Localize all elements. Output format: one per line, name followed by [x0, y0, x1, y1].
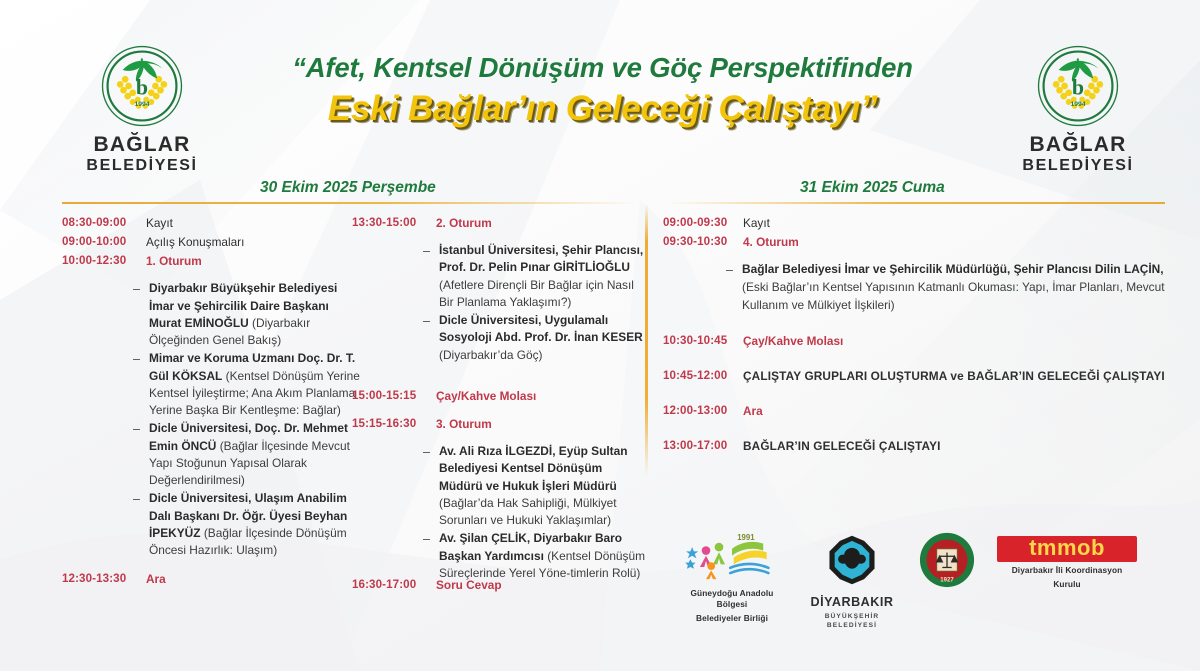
row-time: 08:30-09:00: [62, 214, 146, 233]
row-time: 16:30-17:00: [352, 576, 436, 595]
list-item: – Bağlar Belediyesi İmar ve Şehircilik M…: [726, 261, 1168, 315]
row-time: 15:15-16:30: [352, 415, 436, 434]
logo-baglar-belediyesi-right: b 1994 BAĞLAR BELEDİYESİ: [1002, 44, 1154, 175]
dash-icon: –: [423, 312, 439, 364]
tmmob-caption-line2: Kurulu: [992, 579, 1142, 590]
list-item: – Dicle Üniversitesi, Doç. Dr. Mehmet Em…: [133, 420, 362, 489]
row-time: 13:00-17:00: [663, 437, 743, 456]
dbb-caption-line2: BÜYÜKŞEHİR BELEDİYESİ: [802, 613, 902, 630]
logo-gabb: 1991 Güneydoğu Anadolu Bölgesi Belediyel…: [676, 528, 788, 623]
speaker-entry: Av. Ali Rıza İLGEZDİ, Eyüp Sultan Beledi…: [439, 443, 647, 529]
title-line-1: “Afet, Kentsel Dönüşüm ve Göç Perspektif…: [225, 52, 980, 84]
row-label: Ara: [743, 402, 763, 421]
speaker-entry: Diyarbakır Büyükşehir Belediyesi İmar ve…: [149, 280, 362, 349]
row-time: 10:45-12:00: [663, 367, 743, 386]
day-1-header: 30 Ekim 2025 Perşembe: [260, 179, 436, 197]
schedule-column-day1-morning: 08:30-09:00 Kayıt 09:00-10:00 Açılış Kon…: [62, 214, 362, 560]
schedule-row: 09:00-10:00 Açılış Konuşmaları: [62, 233, 362, 252]
list-item: – Av. Ali Rıza İLGEZDİ, Eyüp Sultan Bele…: [423, 443, 647, 529]
row-label: ÇALIŞTAY GRUPLARI OLUŞTURMA ve BAĞLAR’IN…: [743, 367, 1165, 386]
row-label: Açılış Konuşmaları: [146, 233, 244, 252]
divider-rule-day-2: [665, 202, 1165, 204]
title-line-2: Eski Bağlar’ın Geleceği Çalıştayı”: [225, 88, 980, 130]
row-label: 3. Oturum: [436, 415, 492, 434]
logo-diyarbakir-barosu: 1927: [916, 528, 978, 593]
speaker-entry: Av. Şilan ÇELİK, Diyarbakır Baro Başkan …: [439, 530, 647, 582]
row-time: 10:00-12:30: [62, 252, 146, 271]
row-time: 09:00-10:00: [62, 233, 146, 252]
schedule-row: 09:30-10:30 4. Oturum: [663, 233, 1168, 252]
list-item: – Dicle Üniversitesi, Ulaşım Anabilim Da…: [133, 490, 362, 559]
speaker-entry: Bağlar Belediyesi İmar ve Şehircilik Müd…: [742, 261, 1168, 315]
row-label: BAĞLAR’IN GELECEĞİ ÇALIŞTAYI: [743, 437, 941, 456]
row-label: 4. Oturum: [743, 233, 799, 252]
schedule-row: 13:30-15:00 2. Oturum: [352, 214, 647, 233]
schedule-row: 10:30-10:45 Çay/Kahve Molası: [663, 332, 1168, 351]
speaker-name: Av. Ali Rıza İLGEZDİ, Eyüp Sultan Beledi…: [439, 444, 628, 493]
gabb-emblem-icon: 1991: [680, 528, 784, 580]
logo-right-sub: BELEDİYESİ: [1002, 157, 1154, 175]
logo-diyarbakir-buyuksehir: DİYARBAKIR BÜYÜKŞEHİR BELEDİYESİ: [802, 528, 902, 630]
schedule-row: 09:00-09:30 Kayıt: [663, 214, 1168, 233]
baglar-emblem-icon: b 1994: [1036, 44, 1120, 128]
speaker-entry: Mimar ve Koruma Uzmanı Doç. Dr. T. Gül K…: [149, 350, 362, 419]
speaker-entry: Dicle Üniversitesi, Uygulamalı Sosyoloji…: [439, 312, 647, 364]
logo-left-name: BAĞLAR: [66, 134, 218, 156]
divider-rule-day-1: [62, 202, 640, 204]
schedule-row-break-day1: 12:30-13:30 Ara: [62, 570, 362, 589]
session-speaker-list: – Av. Ali Rıza İLGEZDİ, Eyüp Sultan Bele…: [352, 443, 647, 582]
dash-icon: –: [133, 490, 149, 559]
row-label: 2. Oturum: [436, 214, 492, 233]
tmmob-caption-line1: Diyarbakır İli Koordinasyon: [992, 565, 1142, 576]
gabb-caption-line2: Belediyeler Birliği: [676, 613, 788, 624]
row-label: 1. Oturum: [146, 252, 202, 271]
schedule-row: 10:00-12:30 1. Oturum: [62, 252, 362, 271]
speaker-entry: İstanbul Üniversitesi, Şehir Plancısı, P…: [439, 242, 647, 311]
poster-title: “Afet, Kentsel Dönüşüm ve Göç Perspektif…: [225, 52, 980, 130]
dash-icon: –: [423, 443, 439, 529]
dash-icon: –: [133, 280, 149, 349]
list-item: – Dicle Üniversitesi, Uygulamalı Sosyolo…: [423, 312, 647, 364]
speaker-topic: (Bağlar’da Hak Sahipliği, Mülkiyet Sorun…: [439, 496, 617, 527]
emblem-letter: b: [1072, 75, 1084, 99]
list-item: – İstanbul Üniversitesi, Şehir Plancısı,…: [423, 242, 647, 311]
speaker-topic: (Afetlere Dirençli Bir Bağlar için Nasıl…: [439, 278, 634, 309]
row-label: Çay/Kahve Molası: [436, 387, 536, 406]
schedule-column-day1-afternoon: 13:30-15:00 2. Oturum – İstanbul Ünivers…: [352, 214, 647, 583]
poster-header: b 1994 BAĞLAR BELEDİYESİ “Afet, Kentsel …: [0, 0, 1200, 180]
day-2-header: 31 Ekim 2025 Cuma: [800, 179, 945, 197]
logo-right-name: BAĞLAR: [1002, 134, 1154, 156]
list-item: – Mimar ve Koruma Uzmanı Doç. Dr. T. Gül…: [133, 350, 362, 419]
logo-tmmob: tmmob Diyarbakır İli Koordinasyon Kurulu: [992, 528, 1142, 590]
footer-sponsor-logos: 1991 Güneydoğu Anadolu Bölgesi Belediyel…: [676, 528, 1146, 618]
schedule-row: 12:00-13:00 Ara: [663, 402, 1168, 421]
row-label: Kayıt: [146, 214, 173, 233]
row-time: 15:00-15:15: [352, 387, 436, 406]
dbb-caption-line1: DİYARBAKIR: [802, 594, 902, 610]
speaker-entry: Dicle Üniversitesi, Ulaşım Anabilim Dalı…: [149, 490, 362, 559]
list-item: – Diyarbakır Büyükşehir Belediyesi İmar …: [133, 280, 362, 349]
schedule-row: 10:45-12:00 ÇALIŞTAY GRUPLARI OLUŞTURMA …: [663, 367, 1168, 386]
gabb-caption-line1: Güneydoğu Anadolu Bölgesi: [676, 588, 788, 610]
row-time: 12:00-13:00: [663, 402, 743, 421]
session-speaker-list: – Diyarbakır Büyükşehir Belediyesi İmar …: [62, 280, 362, 559]
gabb-year: 1991: [737, 533, 755, 542]
dash-icon: –: [423, 530, 439, 582]
baglar-emblem-icon: b 1994: [100, 44, 184, 128]
row-time: 10:30-10:45: [663, 332, 743, 351]
schedule-column-day2: 09:00-09:30 Kayıt 09:30-10:30 4. Oturum …: [663, 214, 1168, 456]
schedule-row: 15:00-15:15 Çay/Kahve Molası: [352, 387, 647, 406]
dash-icon: –: [133, 350, 149, 419]
speaker-topic: (Eski Bağlar’ın Kentsel Yapısının Katman…: [742, 280, 1165, 312]
session-speaker-list: – Bağlar Belediyesi İmar ve Şehircilik M…: [663, 261, 1168, 315]
row-label: Çay/Kahve Molası: [743, 332, 843, 351]
logo-baglar-belediyesi-left: b 1994 BAĞLAR BELEDİYESİ: [66, 44, 218, 175]
schedule-row: 13:00-17:00 BAĞLAR’IN GELECEĞİ ÇALIŞTAYI: [663, 437, 1168, 456]
dash-icon: –: [423, 242, 439, 311]
schedule-row: 08:30-09:00 Kayıt: [62, 214, 362, 233]
speaker-name: İstanbul Üniversitesi, Şehir Plancısı, P…: [439, 243, 643, 274]
row-time: 09:00-09:30: [663, 214, 743, 233]
speaker-topic: (Diyarbakır’da Göç): [439, 348, 543, 362]
schedule-row: 15:15-16:30 3. Oturum: [352, 415, 647, 434]
emblem-year: 1994: [1071, 101, 1086, 108]
row-label: Ara: [146, 570, 166, 589]
list-item: – Av. Şilan ÇELİK, Diyarbakır Baro Başka…: [423, 530, 647, 582]
row-time: 13:30-15:00: [352, 214, 436, 233]
schedule-row-qa-day1: 16:30-17:00 Soru Cevap: [352, 576, 647, 595]
row-time: 09:30-10:30: [663, 233, 743, 252]
baro-year: 1927: [940, 577, 954, 583]
speaker-entry: Dicle Üniversitesi, Doç. Dr. Mehmet Emin…: [149, 420, 362, 489]
speaker-name: Dicle Üniversitesi, Uygulamalı Sosyoloji…: [439, 313, 643, 344]
dbb-emblem-icon: [824, 534, 880, 586]
baro-emblem-icon: 1927: [919, 532, 975, 588]
row-label: Kayıt: [743, 214, 770, 233]
tmmob-brand: tmmob: [997, 536, 1137, 562]
session-speaker-list: – İstanbul Üniversitesi, Şehir Plancısı,…: [352, 242, 647, 364]
logo-left-sub: BELEDİYESİ: [66, 157, 218, 175]
row-label: Soru Cevap: [436, 576, 502, 595]
speaker-name: Bağlar Belediyesi İmar ve Şehircilik Müd…: [742, 262, 1164, 276]
emblem-year: 1994: [135, 101, 150, 108]
dash-icon: –: [133, 420, 149, 489]
dash-icon: –: [726, 261, 742, 315]
emblem-letter: b: [136, 75, 148, 99]
row-time: 12:30-13:30: [62, 570, 146, 589]
